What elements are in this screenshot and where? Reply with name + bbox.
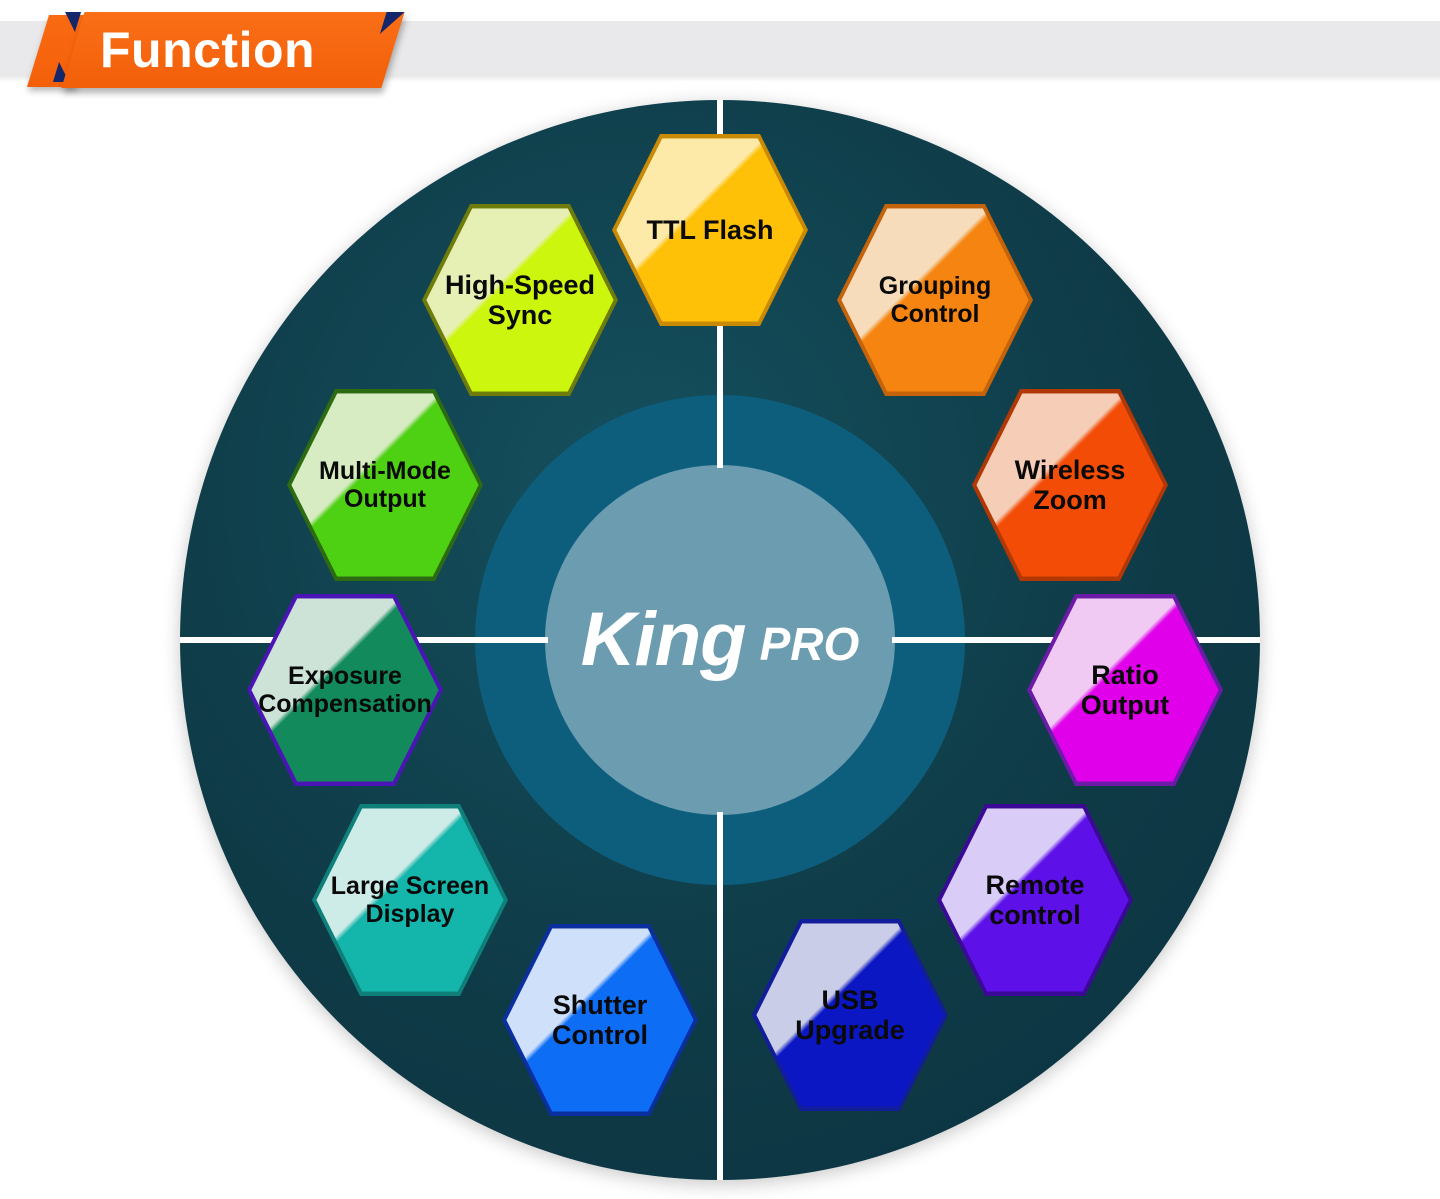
hex-label-grouping-control: Grouping Control: [835, 272, 1035, 328]
hex-label-large-screen-display: Large Screen Display: [310, 872, 510, 928]
hex-label-usb-upgrade: USB Upgrade: [750, 985, 950, 1045]
brand-logo: KingPRO: [545, 465, 895, 815]
brand-suffix: PRO: [760, 621, 860, 667]
hex-label-ttl-flash: TTL Flash: [610, 215, 810, 245]
hex-label-high-speed-sync: High-Speed Sync: [420, 270, 620, 330]
hex-label-exposure-compensation: Exposure Compensation: [245, 662, 445, 718]
page-title: Function: [100, 14, 400, 86]
hex-label-wireless-zoom: Wireless Zoom: [970, 455, 1170, 515]
brand-name: King: [581, 602, 746, 678]
hex-label-remote-control: Remote control: [935, 870, 1135, 930]
hex-label-shutter-control: Shutter Control: [500, 990, 700, 1050]
function-wheel-diagram: KingPRO TTL FlashGrouping ControlWireles…: [180, 100, 1260, 1180]
divider-line-bottom: [717, 812, 723, 1180]
hex-label-ratio-output: Ratio Output: [1025, 660, 1225, 720]
hex-label-multi-mode-output: Multi-Mode Output: [285, 457, 485, 513]
